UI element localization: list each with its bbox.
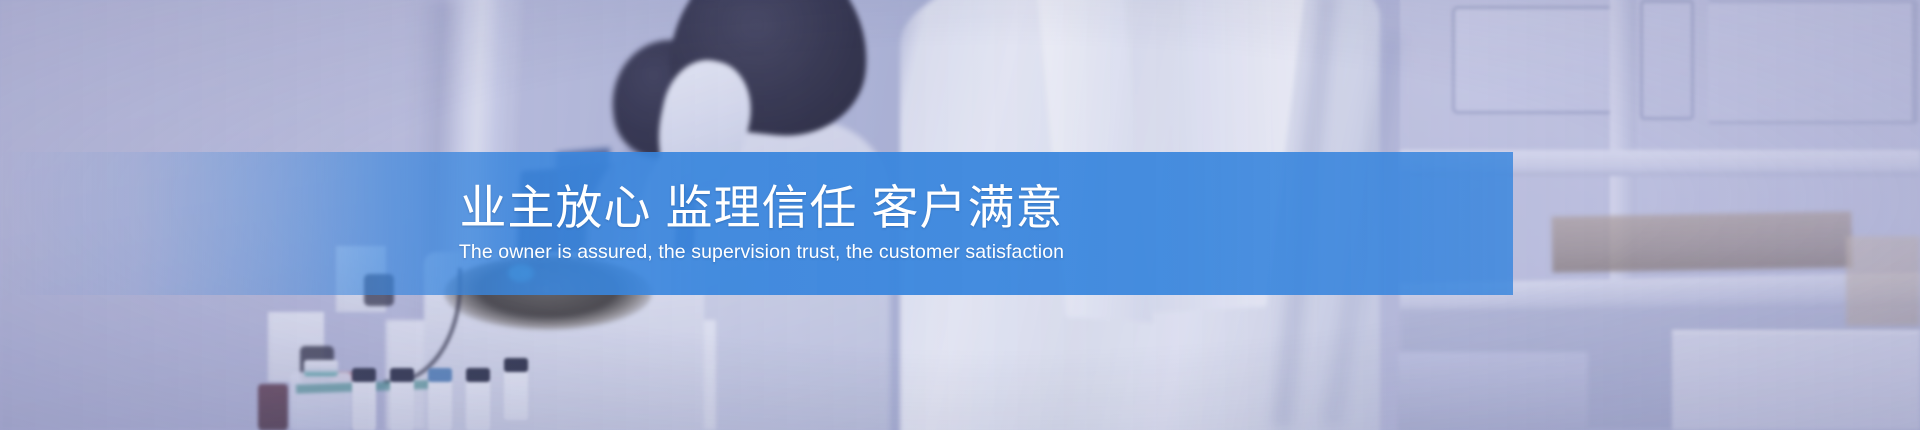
sample-vial — [504, 370, 528, 420]
sample-vial — [390, 380, 414, 430]
window-pane-left — [1452, 6, 1622, 114]
water-bottle — [290, 372, 352, 430]
window-pane-center — [1640, 0, 1694, 120]
banner-text-block: 业主放心 监理信任 客户满意 The owner is assured, the… — [0, 152, 1513, 295]
banner-subheadline: The owner is assured, the supervision tr… — [449, 242, 1064, 263]
sample-vial — [428, 380, 452, 430]
sample-vial — [352, 380, 376, 430]
storage-crate-secondary — [1398, 352, 1588, 430]
banner-headline: 业主放心 监理信任 客户满意 — [449, 183, 1063, 233]
cardboard-box — [1552, 211, 1853, 272]
sample-vial — [466, 380, 490, 430]
hero-banner: 业主放心 监理信任 客户满意 The owner is assured, the… — [0, 0, 1920, 430]
box-far-right — [1846, 236, 1920, 326]
reagent-bottle-dark — [258, 384, 288, 430]
window-pane-right — [1708, 0, 1918, 124]
storage-crate — [1672, 330, 1920, 430]
water-bottle-cap — [304, 360, 338, 376]
